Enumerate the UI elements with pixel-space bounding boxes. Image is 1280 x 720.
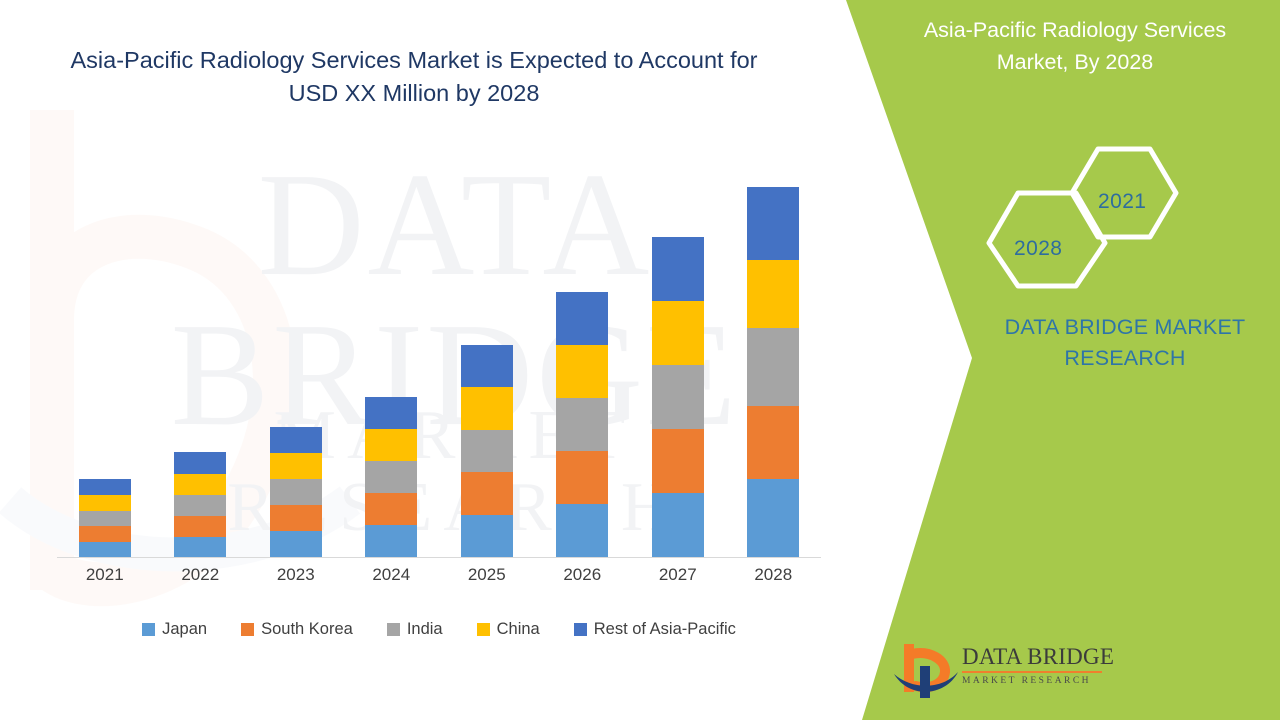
logo-underline: [962, 671, 1102, 673]
panel-title: Asia-Pacific Radiology Services Market, …: [895, 14, 1255, 78]
logo-mark-icon: [890, 640, 962, 702]
brand-name: DATA BRIDGE MARKET RESEARCH: [985, 312, 1265, 374]
logo-tagline: MARKET RESEARCH: [962, 676, 1107, 686]
hexagon-outlines: [980, 145, 1195, 290]
hexagon-2028-label: 2028: [1014, 237, 1062, 261]
logo-name: DATA BRIDGE: [962, 644, 1107, 670]
hexagon-badges: 2021 2028: [980, 145, 1195, 290]
logo-wordmark: DATA BRIDGE MARKET RESEARCH: [962, 644, 1107, 686]
company-logo: DATA BRIDGE MARKET RESEARCH: [890, 640, 1105, 702]
hexagon-2021-label: 2021: [1098, 190, 1146, 214]
infographic-canvas: DATA BRIDGE MARKET RESEARCH Asia-Pacific…: [0, 0, 1280, 720]
